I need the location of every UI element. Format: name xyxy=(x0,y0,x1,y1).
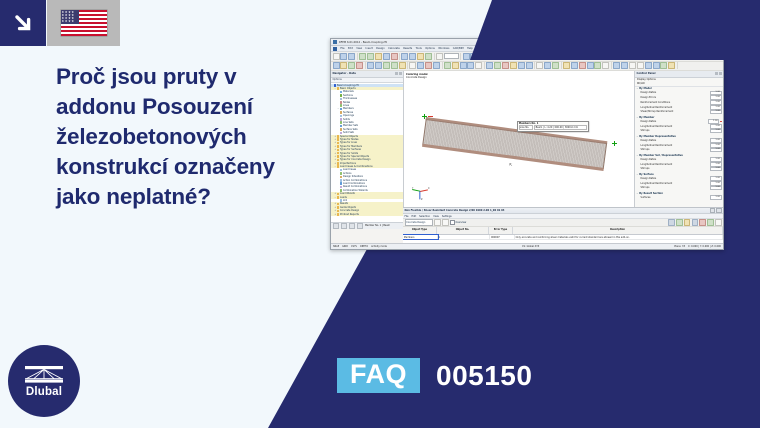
toolbar-button[interactable] xyxy=(425,62,432,69)
grid-cell[interactable]: Members xyxy=(403,235,438,239)
us-flag-badge: ★★★★★★★★★★★★★★★★★★★★★★★★★★★★★★★★★★ xyxy=(47,0,120,46)
table-menu-item-selection[interactable]: Selection xyxy=(419,215,430,218)
toolbar-button[interactable] xyxy=(536,62,543,69)
toolbar-button[interactable] xyxy=(340,62,347,69)
toolbar-button[interactable] xyxy=(383,62,390,69)
tooltip-value: Beam | L: 4.20 | 000.00 | 3000.0 mm xyxy=(534,125,587,130)
bridge-truss-icon xyxy=(25,365,63,384)
grid-cell[interactable]: 1 xyxy=(438,235,491,239)
prev-button[interactable] xyxy=(434,219,441,226)
close-icon[interactable] xyxy=(719,72,722,75)
toolbar-button[interactable] xyxy=(367,53,374,60)
row-label: Shear/Stirrup Reinforcement xyxy=(641,110,674,113)
status-left-group[interactable]: SNAPGRIDCSYSORTHOActivity mode xyxy=(333,245,387,248)
menu-logo-icon xyxy=(333,47,337,51)
menu-item-results[interactable]: Results xyxy=(403,47,412,50)
menu-item-edit[interactable]: Edit xyxy=(348,47,353,50)
toolbar-button[interactable] xyxy=(417,62,424,69)
control-panel-row[interactable]: Shear/Stirrup Reinforcement1.00 xyxy=(637,110,722,115)
row-label: Design Ratios xyxy=(641,91,657,94)
group-expander-icon[interactable]: − xyxy=(637,154,639,157)
menu-item-file[interactable]: File xyxy=(340,47,344,50)
toolbar-button[interactable] xyxy=(621,62,628,69)
control-panel-row[interactable]: Stirrups1.00 xyxy=(637,186,722,191)
row-label: Longitudinal Reinforcement xyxy=(641,144,673,147)
nav-footer-button-3[interactable] xyxy=(349,223,355,229)
page-title: Proč jsou pruty v addonu Posouzení želez… xyxy=(56,62,311,212)
group-label: By Member Representative xyxy=(639,135,676,138)
filter-button[interactable] xyxy=(668,219,675,226)
group-expander-icon[interactable]: − xyxy=(637,87,639,90)
table-window-title: Non Flexible / Shear Resistant Concrete … xyxy=(405,209,505,212)
tree-node-label: Printout Reports xyxy=(340,213,359,216)
row-value[interactable]: 1.00 xyxy=(710,186,722,191)
faq-badge: FAQ xyxy=(337,358,420,393)
row-label: Longitudinal Reinforcement xyxy=(641,106,673,109)
control-panel-groups[interactable]: −By ModelDesign Ratios1.00Design Errors1… xyxy=(635,87,723,223)
status-right-group: Plane: YZX: 0.000 | Y: 0.000 | Z: 0.000 xyxy=(674,245,721,248)
group-expander-icon[interactable]: − xyxy=(637,173,639,176)
toolbar-group xyxy=(333,62,366,69)
toolbar-group xyxy=(536,62,561,69)
toolbar-group xyxy=(409,62,442,69)
export-button[interactable] xyxy=(676,219,683,226)
dlubal-logo: Dlubal xyxy=(8,345,80,417)
control-panel-row[interactable]: Stirrups1.00 xyxy=(637,129,722,134)
row-value[interactable]: 1.00 xyxy=(710,148,722,153)
toolbar-button[interactable] xyxy=(333,62,340,69)
tree-node-icon xyxy=(340,104,343,107)
toolbar-button[interactable] xyxy=(552,62,559,69)
toolbar-button[interactable] xyxy=(383,53,390,60)
grid-body[interactable]: Members1000007Only accurate and reinforc… xyxy=(403,235,723,240)
row-label: Design Ratios xyxy=(641,139,657,142)
grid-column-header[interactable]: Description xyxy=(513,227,723,234)
slide-canvas: ★★★★★★★★★★★★★★★★★★★★★★★★★★★★★★★★★★ Proč … xyxy=(0,0,760,428)
viewport-canvas[interactable]: Members No. 1 Line No. Beam | L: 4.20 | … xyxy=(404,71,634,229)
tree-node-icon xyxy=(340,94,343,97)
group-expander-icon[interactable]: − xyxy=(637,192,639,195)
menu-item-options[interactable]: Options xyxy=(425,47,435,50)
navigator-tree[interactable]: Beam-Coupling.rf6−Basic ObjectsMaterials… xyxy=(331,83,403,222)
grid-column-header[interactable]: Error Type xyxy=(489,227,513,234)
toolbar-button[interactable] xyxy=(475,62,482,69)
status-item: ORTHO xyxy=(360,245,368,248)
navigator-panel[interactable]: Navigator - Data Options Beam-Coupling.r… xyxy=(331,71,404,229)
us-flag-icon: ★★★★★★★★★★★★★★★★★★★★★★★★★★★★★★★★★★ xyxy=(61,10,107,36)
print-button[interactable] xyxy=(692,219,699,226)
toolbar-button[interactable] xyxy=(660,62,667,69)
rfem-app-icon xyxy=(333,40,337,44)
row-label: Longitudinal Reinforcement xyxy=(641,163,673,166)
navigator-tree-item[interactable]: +Printout Reports xyxy=(331,213,403,216)
toolbar-button[interactable] xyxy=(340,53,347,60)
support-node-right[interactable] xyxy=(612,141,617,146)
toolbar-group xyxy=(333,53,358,60)
tree-node-icon xyxy=(340,101,343,104)
row-label: Design Ratios xyxy=(641,177,657,180)
grid-cell[interactable]: Only accurate and reinforcing shear mate… xyxy=(515,235,723,239)
toolbar-button[interactable] xyxy=(594,62,601,69)
next-button[interactable] xyxy=(442,219,449,226)
toolbar-button[interactable] xyxy=(444,62,451,69)
row-label: Design Ratios xyxy=(641,120,657,123)
row-value[interactable]: 1.00 xyxy=(710,167,722,172)
faq-number: 005150 xyxy=(436,362,532,390)
toolbar-button[interactable] xyxy=(526,62,533,69)
toolbar-button[interactable] xyxy=(602,62,609,69)
toolbar-button[interactable] xyxy=(359,53,366,60)
tree-node-icon xyxy=(337,213,340,216)
group-label: By Member xyxy=(639,116,654,119)
table-window-toolbar[interactable]: Concrete Design Overview xyxy=(403,219,723,227)
status-item: X: 0.000 | Y: 0.000 | Z: 0.000 xyxy=(688,245,721,248)
tree-node-icon xyxy=(337,138,340,141)
toolbar-button[interactable] xyxy=(375,53,382,60)
toolbar-input[interactable] xyxy=(444,53,459,59)
close-button[interactable] xyxy=(716,208,721,213)
table-menu-item-edit[interactable]: Edit xyxy=(412,215,417,218)
grid-column-header[interactable]: Object Type xyxy=(403,227,437,234)
status-item: CS: Global XYZ xyxy=(522,245,539,248)
toolbar-button[interactable] xyxy=(510,62,517,69)
tree-node-icon xyxy=(340,121,343,124)
table-row[interactable]: Members1000007Only accurate and reinforc… xyxy=(403,235,723,240)
toolbar-button[interactable] xyxy=(348,62,355,69)
toolbar-button[interactable] xyxy=(587,62,594,69)
table-menu-item-view[interactable]: View xyxy=(433,215,439,218)
toolbar-button[interactable] xyxy=(544,62,551,69)
tree-node-icon xyxy=(340,172,343,175)
group-expander-icon[interactable]: − xyxy=(637,116,639,119)
model-viewport[interactable]: Coloring mode: Concrete Design xyxy=(404,71,634,229)
row-value[interactable]: 1.00 xyxy=(710,129,722,134)
app-status-bar: SNAPGRIDCSYSORTHOActivity mode CS: Globa… xyxy=(331,243,723,249)
toolbar-group xyxy=(613,62,678,69)
tree-node-icon xyxy=(337,162,340,165)
toolbar-group xyxy=(436,53,461,60)
group-label: By Member Set / Representative xyxy=(639,154,683,157)
control-panel-title: Control Panel xyxy=(637,72,656,75)
load-arrow-icon xyxy=(428,116,433,117)
nav-footer-button-4[interactable] xyxy=(357,223,363,229)
navigator-tab-options[interactable]: Options xyxy=(333,78,342,81)
navigator-title: Navigator - Data xyxy=(333,72,356,75)
toolbar-button[interactable] xyxy=(645,62,652,69)
pin-icon[interactable] xyxy=(715,72,718,75)
tree-node-icon xyxy=(337,210,340,213)
toolbar-button[interactable] xyxy=(452,62,459,69)
dlubal-wordmark: Dlubal xyxy=(26,386,62,398)
toolbar-button[interactable] xyxy=(502,62,509,69)
menu-item-tools[interactable]: Tools xyxy=(416,47,422,50)
toolbar-button[interactable] xyxy=(571,62,578,69)
control-panel-group: −By Result SectionSurfaces1.00 xyxy=(637,192,722,200)
tree-node-icon xyxy=(337,193,340,196)
control-panel-subtitle: Display Options RC/LRI xyxy=(635,78,723,87)
menu-item-help[interactable]: Help xyxy=(467,47,473,50)
toolbar-group xyxy=(401,53,434,60)
toolbar-button[interactable] xyxy=(417,53,424,60)
status-item: GRID xyxy=(342,245,348,248)
support-node-left[interactable] xyxy=(422,114,427,119)
toolbar-group xyxy=(444,62,485,69)
toolbar-group xyxy=(359,53,400,60)
toolbar-button[interactable] xyxy=(463,53,470,60)
axis-triad: X Y Z xyxy=(412,183,430,203)
navigator-status-label: Member No. 1 | Beam xyxy=(365,224,390,228)
table-menu-item-settings[interactable]: Settings xyxy=(442,215,452,218)
sort-button[interactable] xyxy=(684,219,691,226)
overview-checkbox[interactable]: Overview xyxy=(450,220,466,225)
group-expander-icon[interactable]: − xyxy=(637,135,639,138)
overview-label: Overview xyxy=(455,221,466,224)
toolbar-button[interactable] xyxy=(367,62,374,69)
tree-node-icon xyxy=(337,145,340,148)
row-value[interactable]: 1.00 xyxy=(710,195,722,200)
row-label: Longitudinal Reinforcement xyxy=(641,125,673,128)
nav-footer-button-2[interactable] xyxy=(341,223,347,229)
toolbar-button[interactable] xyxy=(409,53,416,60)
control-panel[interactable]: Control Panel Display Options RC/LRI −By… xyxy=(634,71,723,229)
tree-node-icon xyxy=(340,98,343,101)
arrow-down-right-icon xyxy=(12,12,34,34)
toolbar-group xyxy=(367,62,408,69)
row-label: Design Ratios xyxy=(641,158,657,161)
delete-button[interactable] xyxy=(699,219,706,226)
status-item: CSYS xyxy=(351,245,357,248)
app-title: RFEM 6.01.0012 - Beam-Coupling.rf6 xyxy=(339,41,387,44)
arrow-down-right-badge xyxy=(0,0,46,46)
design-addon-select[interactable]: Concrete Design xyxy=(405,219,434,225)
table-menu-item-file[interactable]: File xyxy=(405,215,409,218)
minimize-button[interactable] xyxy=(710,208,715,213)
tree-node-icon xyxy=(340,111,343,114)
tree-node-icon xyxy=(337,155,340,158)
toolbar-button[interactable] xyxy=(356,62,363,69)
pin-icon[interactable] xyxy=(395,72,398,75)
arrow-cursor-icon: ⇱ xyxy=(509,163,512,167)
status-middle-group: CS: Global XYZ xyxy=(522,245,539,248)
close-icon[interactable] xyxy=(399,72,402,75)
group-label: By Result Section xyxy=(639,192,663,195)
status-item: Plane: YZ xyxy=(674,245,685,248)
toolbar-button[interactable] xyxy=(391,53,398,60)
menu-item-cad-bim[interactable]: CAD/BIM xyxy=(453,47,464,50)
tree-node-icon xyxy=(337,149,340,152)
toolbar-button[interactable] xyxy=(629,62,636,69)
toolbar-group xyxy=(563,62,612,69)
menu-item-design[interactable]: Design xyxy=(376,47,385,50)
grid-column-header[interactable]: Object No. xyxy=(437,227,489,234)
nav-footer-button-1[interactable] xyxy=(333,223,339,229)
control-panel-group: −By SurfaceDesign Ratios1.00Longitudinal… xyxy=(637,173,722,191)
checkbox-box[interactable] xyxy=(450,220,455,225)
toolbar-button[interactable] xyxy=(375,62,382,69)
toolbar-button[interactable] xyxy=(486,62,493,69)
row-label: Stirrups xyxy=(641,186,650,189)
toolbar-group xyxy=(486,62,535,69)
control-panel-group: −By Member RepresentativeDesign Ratios1.… xyxy=(637,135,722,153)
row-value[interactable]: 1.00 xyxy=(710,110,722,115)
toolbar-button[interactable] xyxy=(348,53,355,60)
row-label: Reinforcement Conditions xyxy=(641,101,671,104)
control-panel-group: −By MemberDesign Ratios1.00Longitudinal … xyxy=(637,116,722,134)
faq-strip: FAQ 005150 xyxy=(337,358,532,393)
errors-grid[interactable]: Object TypeObject No.Error TypeDescripti… xyxy=(403,227,723,243)
rfem-screenshot[interactable]: RFEM 6.01.0012 - Beam-Coupling.rf6 FileE… xyxy=(330,38,724,250)
status-item: Activity mode xyxy=(371,245,387,248)
grid-cell[interactable]: 000007 xyxy=(490,235,515,239)
toolbar-button[interactable] xyxy=(333,53,340,60)
toolbar-button[interactable] xyxy=(409,62,416,69)
toolbar-button[interactable] xyxy=(436,53,443,60)
toolbar-button[interactable] xyxy=(391,62,398,69)
member-tooltip: Members No. 1 Line No. Beam | L: 4.20 | … xyxy=(517,121,589,132)
help-button[interactable] xyxy=(715,219,722,226)
toolbar-button[interactable] xyxy=(467,62,474,69)
row-label: Stirrups xyxy=(641,129,650,132)
menu-item-view[interactable]: View xyxy=(356,47,362,50)
toolbar-button[interactable] xyxy=(613,62,620,69)
control-panel-group: −By Member Set / RepresentativeDesign Ra… xyxy=(637,154,722,172)
toolbar-button[interactable] xyxy=(401,53,408,60)
menu-item-calculate[interactable]: Calculate xyxy=(388,47,400,50)
toolbar-button[interactable] xyxy=(637,62,644,69)
tree-node-icon xyxy=(340,128,343,131)
app-body: Navigator - Data Options Beam-Coupling.r… xyxy=(331,71,723,229)
toolbar-button[interactable] xyxy=(518,62,525,69)
menu-item-insert[interactable]: Insert xyxy=(366,47,373,50)
grid-header-row: Object TypeObject No.Error TypeDescripti… xyxy=(403,227,723,235)
toolbar-button[interactable] xyxy=(425,53,432,60)
toolbar-button[interactable] xyxy=(433,62,440,69)
settings-button[interactable] xyxy=(707,219,714,226)
navigator-footer[interactable]: Member No. 1 | Beam xyxy=(331,222,403,229)
group-label: By Model xyxy=(639,87,651,90)
control-panel-row[interactable]: Stirrups1.00 xyxy=(637,148,722,153)
row-label: Stirrups xyxy=(641,167,650,170)
row-label: Longitudinal Reinforcement xyxy=(641,182,673,185)
toolbar-button[interactable] xyxy=(494,62,501,69)
toolbar-button[interactable] xyxy=(399,62,406,69)
toolbar-button[interactable] xyxy=(460,62,467,69)
status-item: SNAP xyxy=(333,245,339,248)
row-label: Stirrups xyxy=(641,148,650,151)
group-label: By Surface xyxy=(639,173,654,176)
toolbar-button[interactable] xyxy=(653,62,660,69)
toolbar-button[interactable] xyxy=(579,62,586,69)
row-label: Surfaces xyxy=(641,196,651,199)
tree-node-icon xyxy=(337,206,340,209)
tooltip-key: Line No. xyxy=(519,125,533,130)
control-panel-row[interactable]: Surfaces1.00 xyxy=(637,195,722,200)
control-panel-group: −By ModelDesign Ratios1.00Design Errors1… xyxy=(637,87,722,114)
toolbar-button[interactable] xyxy=(668,62,675,69)
toolbar-button[interactable] xyxy=(563,62,570,69)
toolbar-row-2[interactable] xyxy=(331,62,723,72)
row-label: Design Errors xyxy=(641,96,656,99)
menu-item-windows[interactable]: Windows xyxy=(438,47,449,50)
error-dot-icon xyxy=(720,121,722,123)
control-panel-row[interactable]: Stirrups1.00 xyxy=(637,167,722,172)
